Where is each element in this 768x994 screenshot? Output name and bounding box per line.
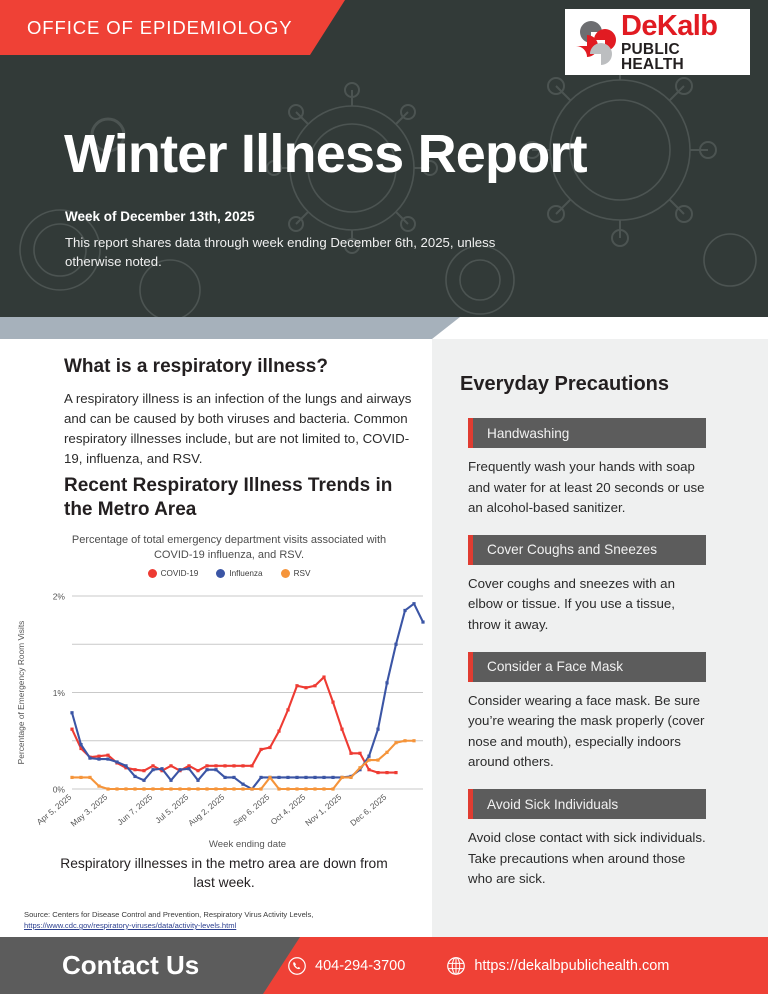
respiratory-illness-body: A respiratory illness is an infection of… bbox=[64, 389, 416, 469]
svg-text:2%: 2% bbox=[53, 592, 66, 602]
chart-caption: Respiratory illnesses in the metro area … bbox=[48, 855, 400, 892]
precaution-text: Frequently wash your hands with soap and… bbox=[468, 457, 706, 519]
precaution-item: Avoid Sick Individuals Avoid close conta… bbox=[468, 789, 713, 890]
precaution-header-bar[interactable]: Handwashing bbox=[468, 418, 706, 448]
contact-website[interactable]: https://dekalbpublichealth.com bbox=[447, 957, 669, 975]
contact-us-banner: Contact Us bbox=[0, 937, 300, 994]
legend-label: COVID-19 bbox=[161, 569, 199, 578]
source-link[interactable]: https://www.cdc.gov/respiratory-viruses/… bbox=[24, 921, 236, 930]
left-content-column: What is a respiratory illness? A respira… bbox=[0, 339, 432, 937]
precaution-header-bar[interactable]: Consider a Face Mask bbox=[468, 652, 706, 682]
office-ribbon-label: OFFICE OF EPIDEMIOLOGY bbox=[0, 17, 292, 39]
legend-item[interactable]: Influenza bbox=[216, 569, 262, 578]
legend-label: RSV bbox=[294, 569, 311, 578]
precaution-item: Handwashing Frequently wash your hands w… bbox=[468, 418, 713, 519]
precaution-text: Consider wearing a face mask. Be sure yo… bbox=[468, 691, 706, 773]
contact-phone[interactable]: 404-294-3700 bbox=[288, 957, 405, 975]
legend-item[interactable]: RSV bbox=[281, 569, 311, 578]
report-week-label: Week of December 13th, 2025 bbox=[65, 209, 255, 224]
precaution-item: Consider a Face Mask Consider wearing a … bbox=[468, 652, 713, 773]
header-divider-band-left bbox=[0, 317, 460, 339]
phone-icon bbox=[288, 957, 306, 975]
precaution-item: Cover Coughs and Sneezes Cover coughs an… bbox=[468, 535, 713, 636]
svg-text:Jul 5, 2025: Jul 5, 2025 bbox=[154, 792, 191, 825]
source-text: Source: Centers for Disease Control and … bbox=[24, 910, 313, 919]
svg-text:Aug 2, 2025: Aug 2, 2025 bbox=[187, 792, 227, 828]
website-url: https://dekalbpublichealth.com bbox=[474, 958, 669, 974]
contact-details: 404-294-3700 https://dekalbpublichealth.… bbox=[288, 937, 669, 994]
precaution-header-bar[interactable]: Avoid Sick Individuals bbox=[468, 789, 706, 819]
svg-text:Dec 6, 2025: Dec 6, 2025 bbox=[349, 792, 389, 828]
precaution-text: Avoid close contact with sick individual… bbox=[468, 828, 706, 890]
svg-text:Sep 6, 2025: Sep 6, 2025 bbox=[232, 792, 272, 828]
legend-color-swatch bbox=[281, 569, 290, 578]
chart-legend: COVID-19 Influenza RSV bbox=[64, 569, 394, 578]
respiratory-trends-chart[interactable]: 0%1%2%Percentage of Emergency Room Visit… bbox=[10, 584, 430, 854]
trends-heading: Recent Respiratory Illness Trends in the… bbox=[64, 474, 416, 522]
legend-color-swatch bbox=[216, 569, 225, 578]
legend-item[interactable]: COVID-19 bbox=[148, 569, 199, 578]
report-note: This report shares data through week end… bbox=[65, 233, 535, 271]
svg-text:Nov 1, 2025: Nov 1, 2025 bbox=[304, 792, 344, 828]
chart-source: Source: Centers for Disease Control and … bbox=[24, 909, 364, 931]
phone-number: 404-294-3700 bbox=[315, 958, 405, 974]
svg-text:Jun 7, 2025: Jun 7, 2025 bbox=[116, 792, 155, 827]
page-title: Winter Illness Report bbox=[64, 127, 587, 181]
contact-us-title: Contact Us bbox=[0, 950, 199, 981]
contact-footer: Contact Us 404-294-3700 https://dekalbpu… bbox=[0, 937, 768, 994]
svg-text:Oct 4, 2025: Oct 4, 2025 bbox=[269, 792, 308, 826]
svg-text:Percentage of Emergency Room V: Percentage of Emergency Room Visits bbox=[16, 621, 26, 765]
dekalb-logo: DeKalb PUBLIC HEALTH bbox=[565, 9, 750, 75]
precaution-label: Cover Coughs and Sneezes bbox=[487, 542, 657, 557]
pinwheel-cross-logo-icon bbox=[571, 17, 621, 67]
globe-icon bbox=[447, 957, 465, 975]
precaution-label: Consider a Face Mask bbox=[487, 659, 623, 674]
precaution-header-bar[interactable]: Cover Coughs and Sneezes bbox=[468, 535, 706, 565]
precaution-text: Cover coughs and sneezes with an elbow o… bbox=[468, 574, 706, 636]
logo-secondary-text: PUBLIC HEALTH bbox=[621, 42, 742, 73]
office-ribbon: OFFICE OF EPIDEMIOLOGY bbox=[0, 0, 345, 55]
precaution-label: Handwashing bbox=[487, 426, 569, 441]
logo-primary-text: DeKalb bbox=[621, 12, 742, 41]
legend-color-swatch bbox=[148, 569, 157, 578]
chart-canvas: 0%1%2%Percentage of Emergency Room Visit… bbox=[10, 584, 430, 854]
chart-subtitle: Percentage of total emergency department… bbox=[64, 533, 394, 564]
svg-text:May 3, 2025: May 3, 2025 bbox=[69, 792, 110, 828]
precautions-list: Handwashing Frequently wash your hands w… bbox=[468, 418, 713, 906]
svg-text:0%: 0% bbox=[53, 785, 66, 795]
legend-label: Influenza bbox=[229, 569, 262, 578]
report-header: OFFICE OF EPIDEMIOLOGY DeKalb PUBLIC HEA… bbox=[0, 0, 768, 317]
precaution-label: Avoid Sick Individuals bbox=[487, 797, 618, 812]
svg-text:Week ending date: Week ending date bbox=[209, 839, 286, 850]
precautions-heading: Everyday Precautions bbox=[460, 373, 669, 396]
svg-text:1%: 1% bbox=[53, 688, 66, 698]
respiratory-illness-heading: What is a respiratory illness? bbox=[64, 356, 328, 378]
